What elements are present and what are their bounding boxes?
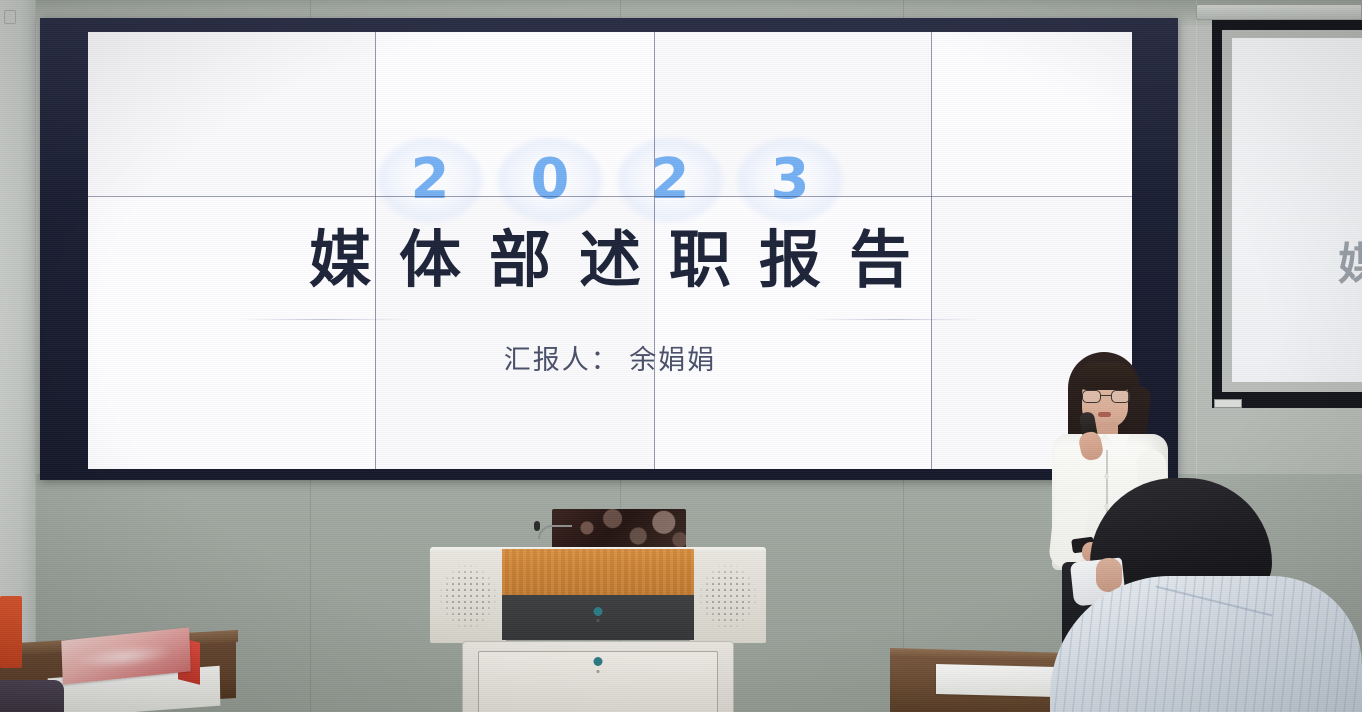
chair-backrest xyxy=(0,680,64,712)
year-digit-text: 2 xyxy=(651,152,690,208)
decoration-rule-left xyxy=(240,319,410,320)
glasses-bridge xyxy=(1101,395,1111,396)
projection-screen-border: 媒 xyxy=(1222,30,1362,392)
speaker-grille-icon xyxy=(698,563,758,631)
screen-pull-tab[interactable] xyxy=(1214,399,1242,408)
podium-left-wing xyxy=(430,551,506,643)
year-digit: 0 xyxy=(521,144,579,216)
video-wall-grid-line xyxy=(931,32,932,469)
slide-decoration xyxy=(240,318,980,320)
wall-vent-icon xyxy=(4,10,16,24)
podium-lock-icon[interactable] xyxy=(594,607,603,616)
podium-right-wing xyxy=(690,551,766,643)
decoration-rule-right xyxy=(810,319,980,320)
podium-control-panel[interactable] xyxy=(502,595,694,640)
podium-wood-panel xyxy=(502,549,694,595)
presenter-fringe xyxy=(1077,362,1135,390)
projection-surface: 媒 xyxy=(1232,38,1362,382)
audience-member xyxy=(1050,478,1362,712)
speaker-grille-icon xyxy=(438,563,498,631)
video-wall-grid-line xyxy=(375,32,376,469)
year-digit: 2 xyxy=(641,144,699,216)
gooseneck-microphone-icon xyxy=(538,525,572,539)
glasses-icon xyxy=(1082,390,1130,403)
projector-screen-mount xyxy=(1196,4,1362,20)
slide-title-char: 部 xyxy=(489,228,551,293)
projected-title-text: 媒 xyxy=(1338,228,1362,292)
slide-title-char: 述 xyxy=(579,228,641,293)
year-digit: 2 xyxy=(401,144,459,216)
year-digit-text: 0 xyxy=(531,152,570,208)
glasses-right-lens xyxy=(1111,390,1130,403)
slide-title-char: 报 xyxy=(759,228,821,293)
podium-cabinet xyxy=(462,641,734,712)
slide-title-char: 媒 xyxy=(309,228,371,293)
year-digit-text: 2 xyxy=(411,152,450,208)
main-video-wall[interactable]: 2 0 2 3 媒 体 部 述 职 报 告 xyxy=(40,18,1178,480)
slide-title: 媒 体 部 述 职 报 告 xyxy=(309,228,911,293)
slide-title-char: 体 xyxy=(399,228,461,293)
microphone-head-icon xyxy=(534,521,540,531)
video-wall-grid-line xyxy=(654,32,655,469)
podium[interactable] xyxy=(430,503,766,712)
year-digit-text: 3 xyxy=(771,152,810,208)
secondary-projection-screen[interactable]: 媒 xyxy=(1212,20,1362,408)
video-wall-screen: 2 0 2 3 媒 体 部 述 职 报 告 xyxy=(88,32,1132,469)
slide-title-char: 职 xyxy=(669,228,731,293)
waste-bin xyxy=(0,596,22,668)
slide-content: 2 0 2 3 媒 体 部 述 职 报 告 xyxy=(88,32,1132,469)
slide-subtitle: 汇报人： 余娟娟 xyxy=(504,338,717,377)
cabinet-lock-icon[interactable] xyxy=(594,657,603,666)
year-digit: 3 xyxy=(761,144,819,216)
slide-year: 2 0 2 3 xyxy=(401,144,819,216)
presenter-mouth xyxy=(1098,412,1111,417)
video-wall-grid-line xyxy=(88,196,1132,197)
glasses-left-lens xyxy=(1082,390,1101,403)
screenshot-root: 2 0 2 3 媒 体 部 述 职 报 告 xyxy=(0,0,1362,712)
slide-title-char: 告 xyxy=(849,228,911,293)
